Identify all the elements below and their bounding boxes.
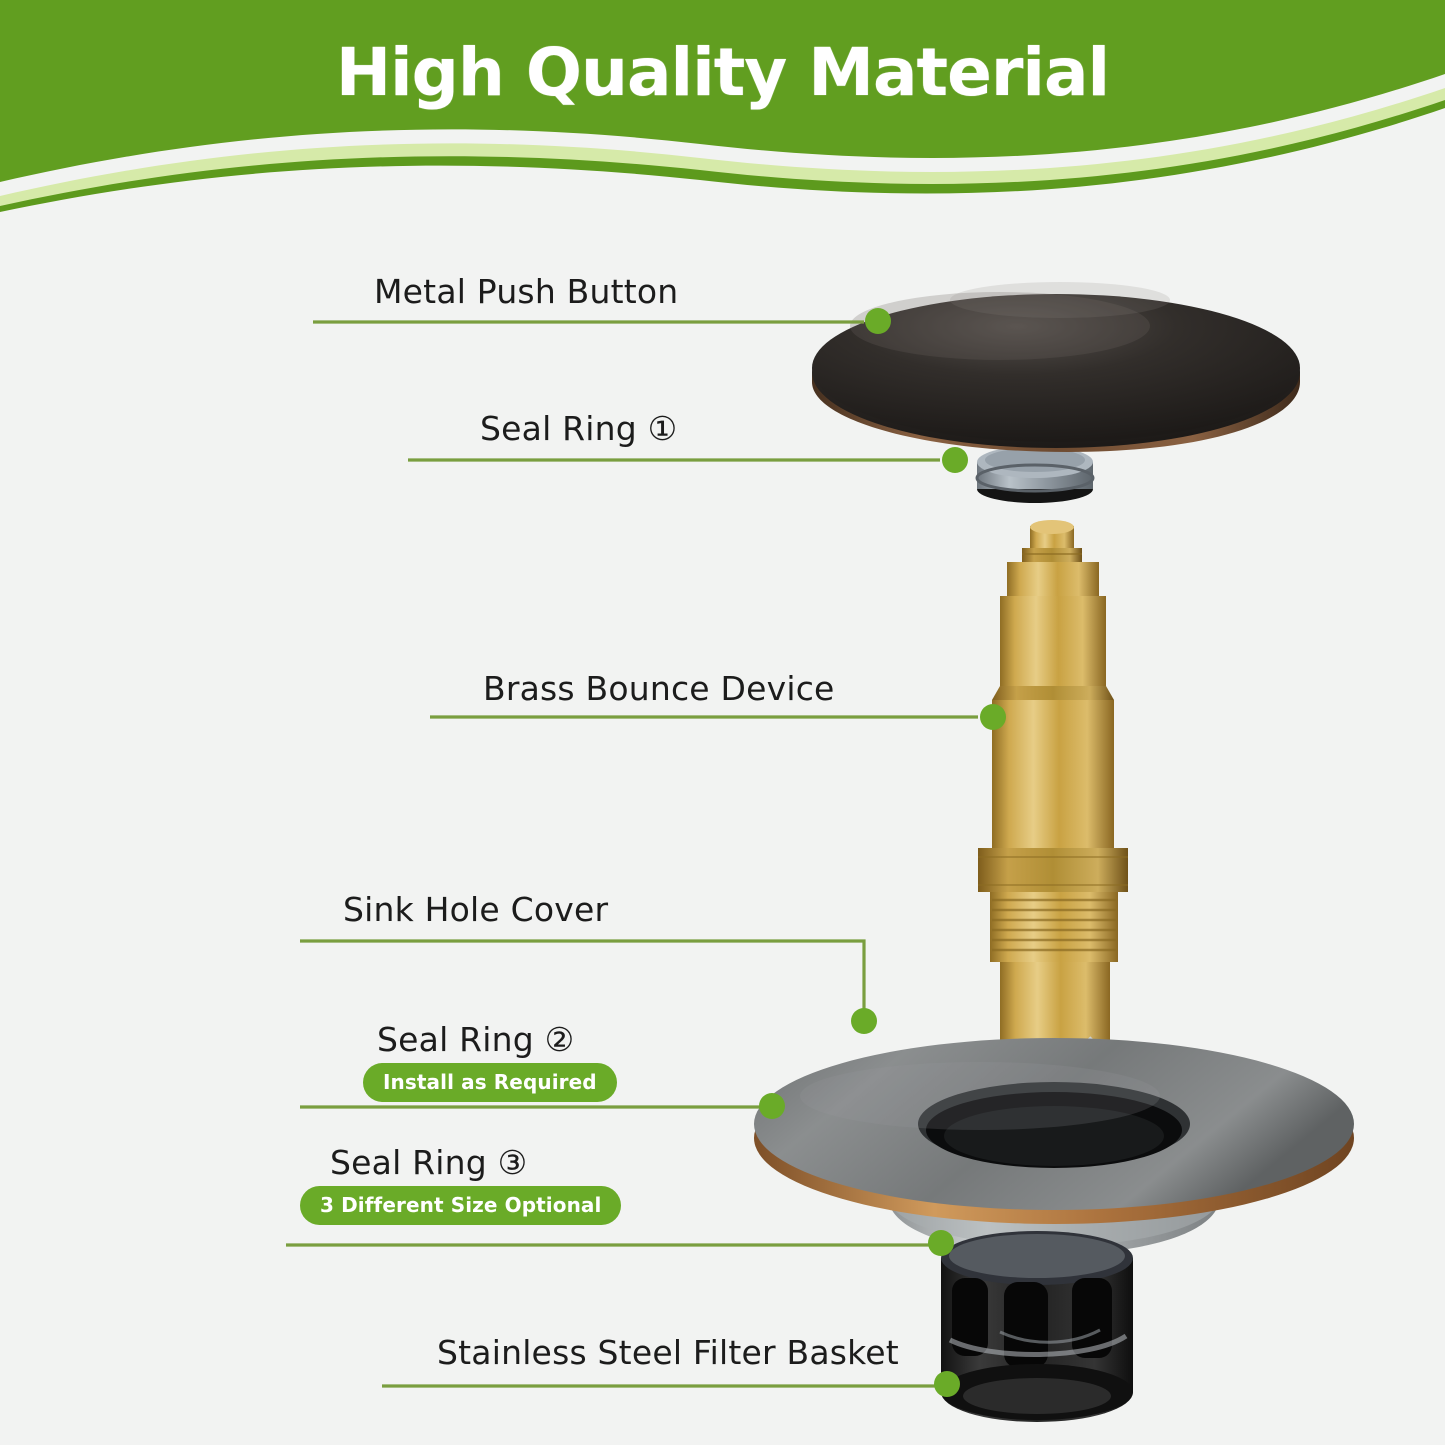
callout-label-sink-hole-cover: Sink Hole Cover	[343, 890, 608, 929]
metal-push-button-part	[812, 282, 1300, 503]
brass-bounce-device-part	[978, 520, 1128, 1112]
page-title: High Quality Material	[0, 34, 1445, 111]
badge-three-different-size-optional: 3 Different Size Optional	[300, 1186, 621, 1225]
callout-label-metal-push-button: Metal Push Button	[374, 272, 678, 311]
seal-ring-one-part	[977, 446, 1093, 503]
callout-label-seal-ring-2: Seal Ring ②	[377, 1020, 574, 1059]
stainless-steel-filter-basket-part	[941, 1231, 1133, 1422]
product-exploded-view	[0, 0, 1445, 1445]
badge-install-as-required: Install as Required	[363, 1063, 617, 1102]
callout-label-seal-ring-3: Seal Ring ③	[330, 1143, 527, 1182]
infographic-canvas: High Quality Material	[0, 0, 1445, 1445]
callout-label-seal-ring-1: Seal Ring ①	[480, 409, 677, 448]
callout-label-filter-basket: Stainless Steel Filter Basket	[437, 1333, 899, 1372]
sink-hole-cover-part	[754, 1038, 1354, 1254]
callout-label-brass-bounce-device: Brass Bounce Device	[483, 669, 835, 708]
